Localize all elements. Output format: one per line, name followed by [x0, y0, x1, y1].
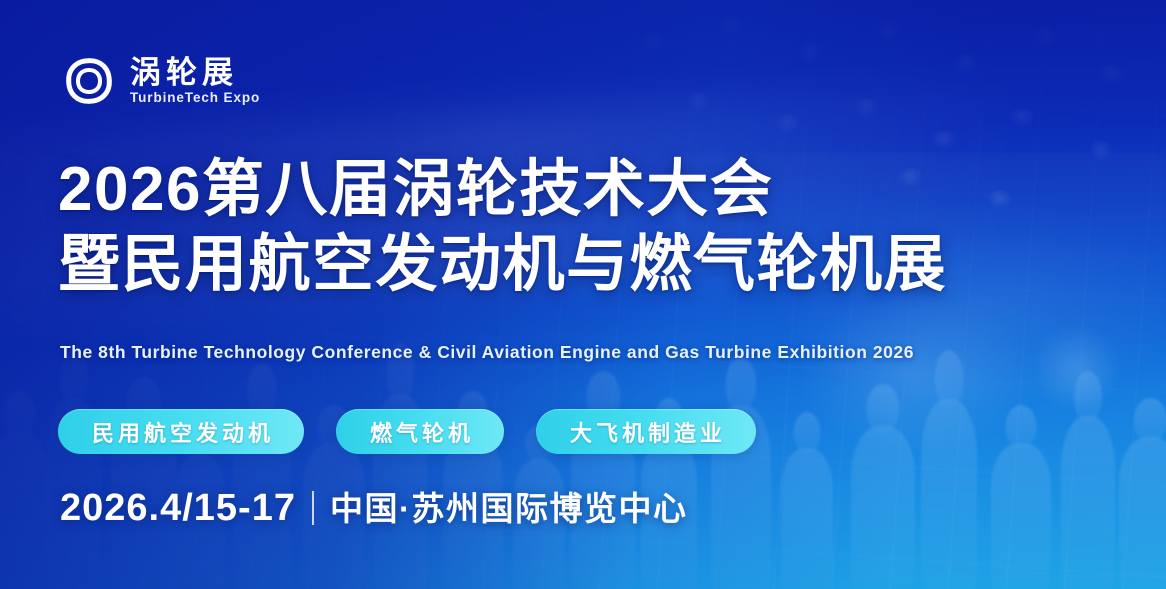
- headline-block: 2026第八届涡轮技术大会 暨民用航空发动机与燃气轮机展: [58, 152, 947, 302]
- turbine-swirl-icon: [60, 52, 118, 110]
- event-venue: 中国·苏州国际博览中心: [330, 492, 688, 525]
- topic-tag-list: 民用航空发动机 燃气轮机 大飞机制造业: [58, 409, 756, 454]
- topic-tag[interactable]: 燃气轮机: [336, 409, 504, 454]
- logo-text-block: 涡轮展 TurbineTech Expo: [130, 57, 260, 105]
- topic-tag[interactable]: 大飞机制造业: [536, 409, 756, 454]
- date-venue-line: 2026.4/15-17 中国·苏州国际博览中心: [60, 489, 687, 527]
- event-date: 2026.4/15-17: [60, 489, 296, 527]
- headline-line-2: 暨民用航空发动机与燃气轮机展: [58, 227, 947, 302]
- brand-logo: 涡轮展 TurbineTech Expo: [60, 52, 260, 110]
- event-banner: 涡轮展 TurbineTech Expo 2026第八届涡轮技术大会 暨民用航空…: [0, 0, 1166, 589]
- logo-name-cn: 涡轮展: [130, 57, 260, 88]
- headline-line-1: 2026第八届涡轮技术大会: [58, 152, 947, 227]
- vertical-divider: [312, 491, 314, 525]
- logo-name-en: TurbineTech Expo: [130, 91, 260, 105]
- banner-content: 涡轮展 TurbineTech Expo 2026第八届涡轮技术大会 暨民用航空…: [0, 0, 1166, 589]
- topic-tag[interactable]: 民用航空发动机: [58, 409, 304, 454]
- subtitle-english: The 8th Turbine Technology Conference & …: [60, 342, 914, 363]
